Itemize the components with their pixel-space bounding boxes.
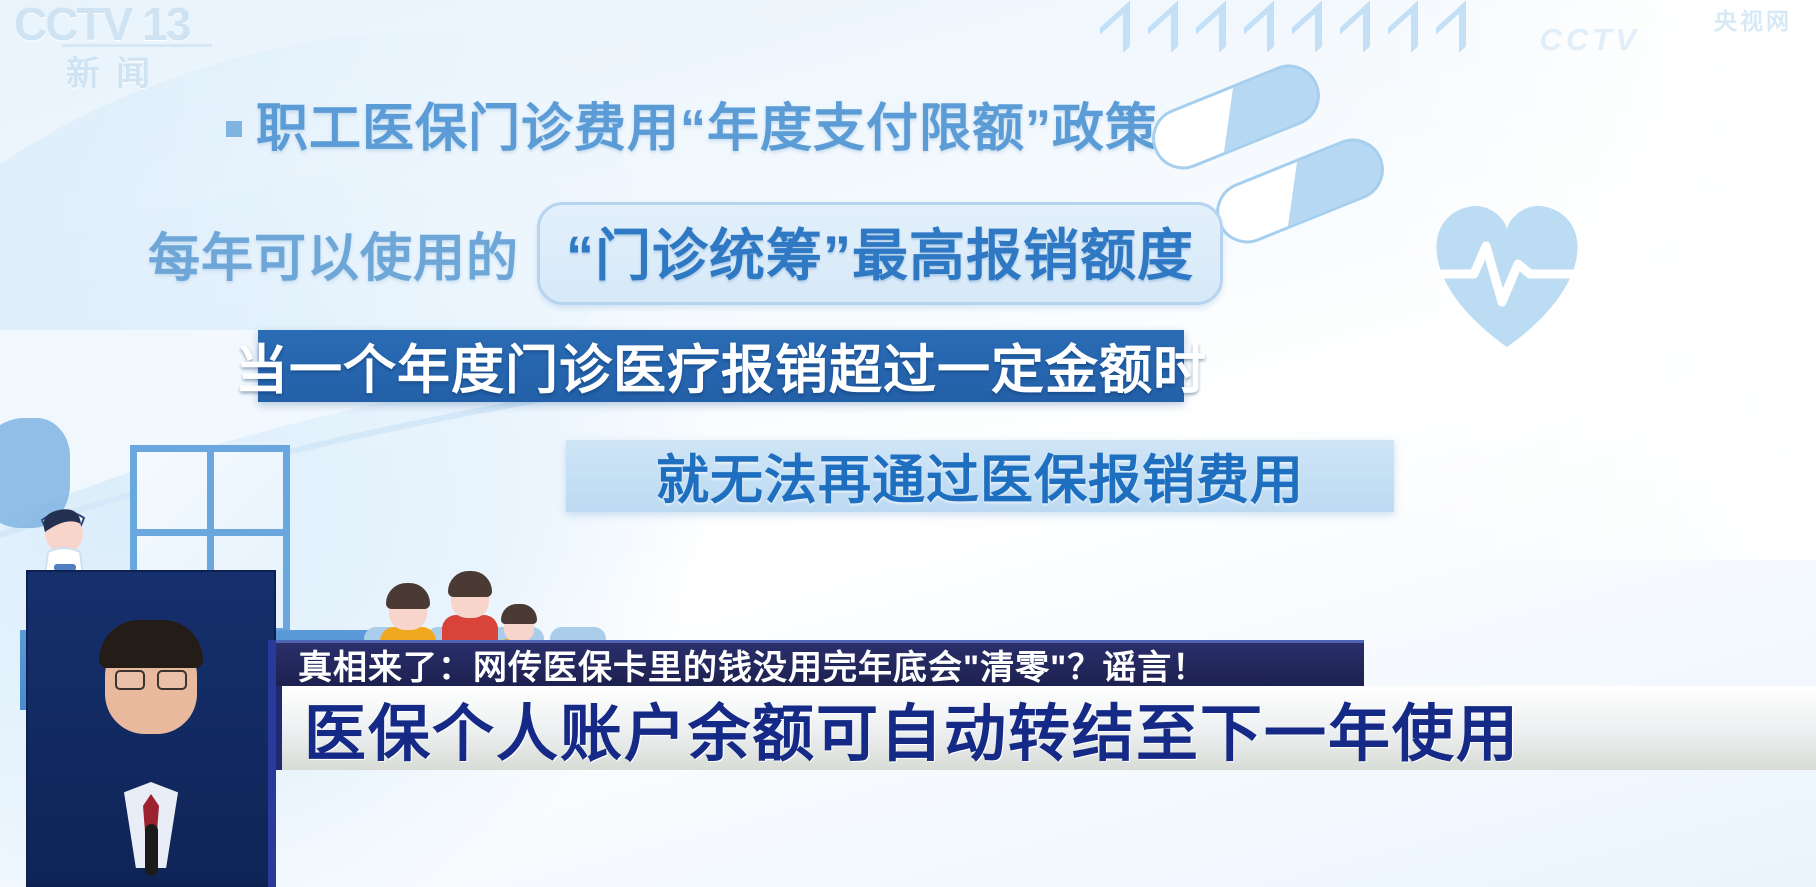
heading-line-2-highlight-box: “门诊统筹”最高报销额度 (537, 202, 1223, 305)
heading-line-2-boxed-text: “门诊统筹”最高报销额度 (566, 211, 1194, 292)
microphone-icon (145, 824, 158, 876)
lower-third-headline-text: 医保个人账户余额可自动转结至下一年使用 (304, 683, 1520, 773)
heart-ecg-icon (1412, 182, 1602, 354)
heading-line-2: 每年可以使用的 “门诊统筹”最高报销额度 (148, 202, 1223, 305)
lower-third-headline: 医保个人账户余额可自动转结至下一年使用 (276, 686, 1816, 770)
lower-third-subtitle: 真相来了：网传医保卡里的钱没用完年底会"清零"？谣言！ (276, 640, 1364, 686)
watermark-cctv: CCTV (1540, 22, 1640, 58)
lower-third-accent-bar (268, 640, 276, 887)
watermark-cctv-net: 央视网 (1714, 2, 1792, 36)
logo-divider (62, 44, 212, 47)
heading-line-1: 职工医保门诊费用“年度支付限额”政策 (226, 86, 1158, 161)
anchor-picture-in-picture (26, 570, 276, 887)
glasses-icon (115, 670, 187, 690)
channel-logo-text: CCTV 13 (14, 0, 234, 48)
heading-line-2-prefix: 每年可以使用的 (148, 216, 519, 291)
anchor-hair (99, 620, 203, 668)
channel-logo-subtitle: 新闻 (66, 46, 234, 95)
channel-logo: CCTV 13 新闻 (14, 0, 234, 86)
heading-line-1-text: 职工医保门诊费用“年度支付限额”政策 (256, 86, 1158, 161)
broadcast-frame: CCTV 央视网 CCTV 13 新闻 职工医保门诊费用“年度支付限额”政策 每… (0, 0, 1816, 887)
bullet-square-icon (226, 121, 242, 137)
lower-third-subtitle-text: 真相来了：网传医保卡里的钱没用完年底会"清零"？谣言！ (298, 640, 1207, 689)
anchor-head (105, 630, 197, 734)
